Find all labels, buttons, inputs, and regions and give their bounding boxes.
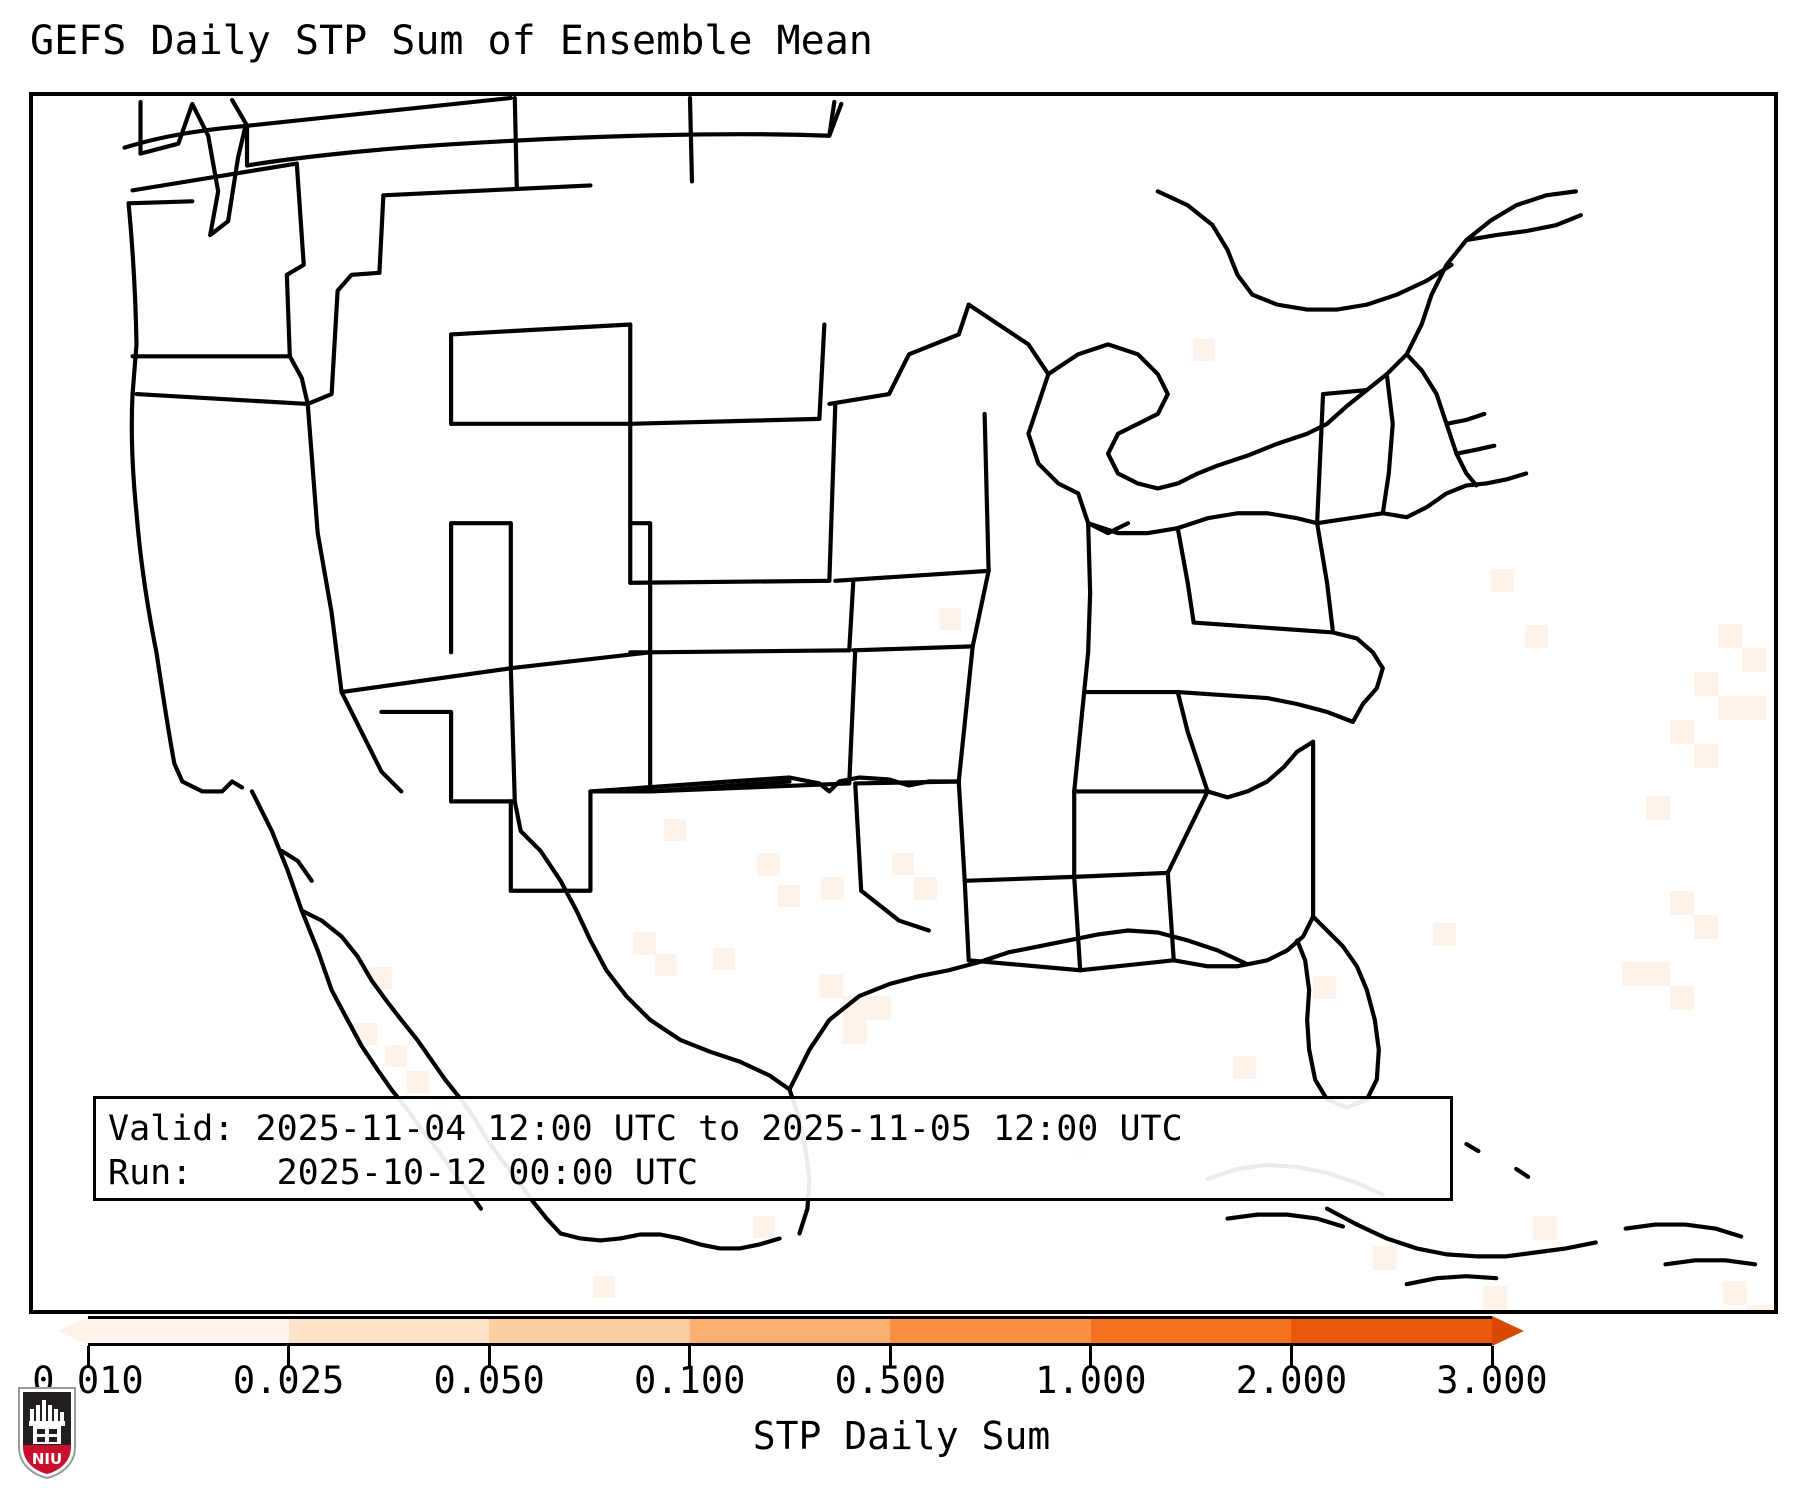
niu-logo: NIU	[16, 1385, 78, 1481]
colorbar-gradient	[88, 1316, 1492, 1346]
colorbar-segment-4	[890, 1319, 1091, 1343]
colorbar-tick-label-5: 1.000	[1035, 1358, 1146, 1404]
colorbar-tick-labels: 0.0100.0250.0500.1000.5001.0002.0003.000	[0, 1358, 1803, 1408]
colorbar-segment-5	[1091, 1319, 1292, 1343]
colorbar-under-arrow	[58, 1316, 90, 1346]
page-title: GEFS Daily STP Sum of Ensemble Mean	[30, 18, 873, 64]
colorbar-over-arrow	[1492, 1316, 1524, 1346]
colorbar-segment-2	[489, 1319, 690, 1343]
colorbar-segment-1	[289, 1319, 490, 1343]
colorbar-tick-label-2: 0.050	[433, 1358, 544, 1404]
colorbar-tick-label-7: 3.000	[1436, 1358, 1547, 1404]
colorbar-segment-0	[88, 1319, 289, 1343]
valid-run-info-box: Valid: 2025-11-04 12:00 UTC to 2025-11-0…	[93, 1096, 1453, 1201]
colorbar-tick-label-4: 0.500	[835, 1358, 946, 1404]
colorbar-axis-title: STP Daily Sum	[0, 1412, 1803, 1460]
niu-logo-text: NIU	[32, 1450, 62, 1468]
colorbar-tick-label-3: 0.100	[634, 1358, 745, 1404]
colorbar-segment-3	[690, 1319, 891, 1343]
colorbar	[0, 1316, 1803, 1356]
colorbar-tick-label-6: 2.000	[1236, 1358, 1347, 1404]
map-panel: Valid: 2025-11-04 12:00 UTC to 2025-11-0…	[29, 92, 1778, 1314]
colorbar-segment-6	[1291, 1319, 1492, 1343]
colorbar-tick-label-1: 0.025	[233, 1358, 344, 1404]
valid-time-line: Valid: 2025-11-04 12:00 UTC to 2025-11-0…	[108, 1107, 1438, 1151]
run-time-line: Run: 2025-10-12 00:00 UTC	[108, 1151, 1438, 1195]
